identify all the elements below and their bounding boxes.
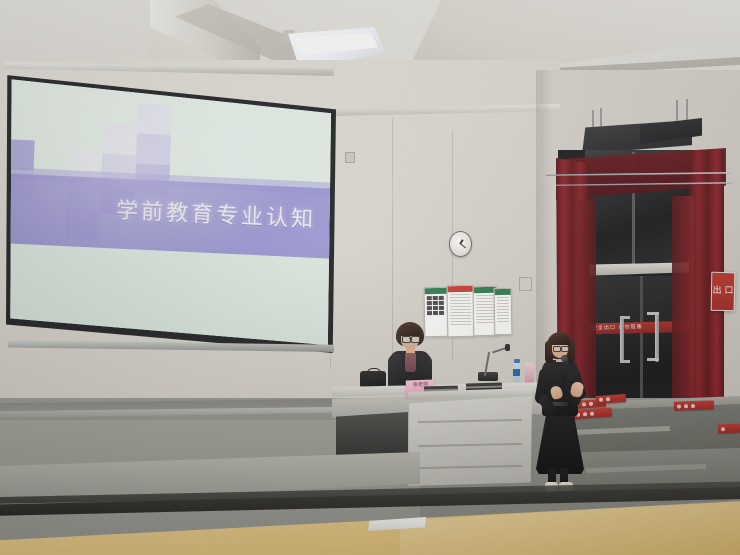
host-inner-top	[405, 352, 416, 372]
poster-text-lines	[448, 292, 474, 326]
screen-vignette	[9, 71, 333, 349]
projection-screen: 学前教育专业认知	[9, 71, 333, 349]
door-handle-bracket	[647, 358, 659, 361]
microphone-base	[478, 372, 498, 381]
glasses-icon	[411, 336, 420, 343]
poster-text-lines	[495, 295, 511, 323]
glasses-icon	[561, 346, 569, 352]
step-warning-sticker	[674, 400, 714, 410]
bottle-label	[513, 369, 520, 376]
exit-sign: 出 口	[711, 272, 736, 311]
door-handle-bracket	[620, 360, 630, 363]
poster-chip-grid	[425, 294, 447, 317]
podium-console	[408, 396, 532, 486]
host-fringe	[399, 326, 421, 336]
step-warning-sticker	[718, 424, 740, 434]
glasses-bridge	[409, 338, 411, 339]
handbag	[360, 371, 386, 388]
wall-poster	[447, 285, 475, 337]
head-table-opening	[336, 412, 408, 458]
exit-sign-text: 出 口	[712, 287, 733, 296]
door-handle-bracket	[620, 316, 630, 319]
speaker-dress-skirt	[536, 412, 584, 474]
host-shoulder-left	[388, 354, 402, 388]
wall-socket-icon	[519, 277, 532, 291]
door-handle-bracket	[647, 312, 659, 315]
bottle-cap	[514, 359, 520, 363]
wall-socket-icon	[345, 152, 355, 163]
glasses-icon	[553, 346, 561, 352]
microphone-capsule	[561, 355, 568, 362]
door-handle[interactable]	[655, 314, 659, 362]
wall-poster	[494, 288, 513, 335]
lecture-hall-photo: 学前教育专业认知	[0, 0, 740, 555]
door-handle[interactable]	[620, 318, 624, 362]
microphone-head	[505, 344, 510, 351]
ac-hanger-rod	[676, 100, 678, 122]
ac-hanger-rod	[686, 99, 688, 121]
speaker-fringe	[550, 336, 570, 345]
seated-host-person	[386, 322, 434, 384]
standing-speaker-person	[528, 332, 590, 492]
